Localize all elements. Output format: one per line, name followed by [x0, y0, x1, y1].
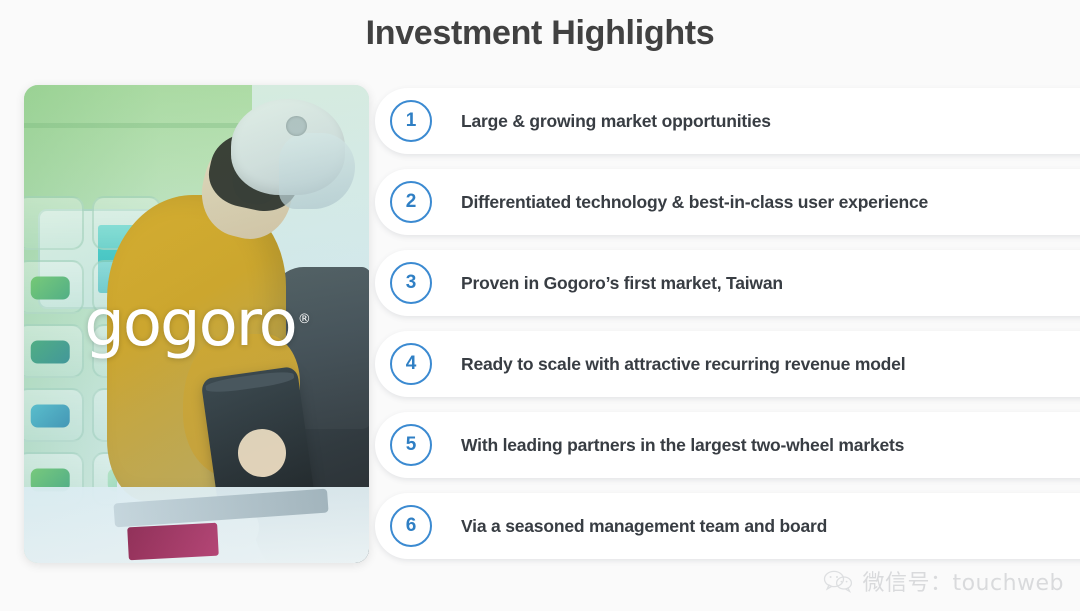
highlight-label: Differentiated technology & best-in-clas…: [461, 192, 928, 213]
battery-slot: [24, 260, 84, 314]
battery-slot: [24, 388, 84, 442]
watermark: 微信号：touchweb: [823, 565, 1064, 597]
highlight-label: With leading partners in the largest two…: [461, 435, 904, 456]
highlight-number-badge: 5: [390, 424, 432, 466]
highlight-item-3[interactable]: 3 Proven in Gogoro’s first market, Taiwa…: [375, 250, 1080, 316]
gogoro-battery-swap-photo: gogoro NETWORK gogoro®: [24, 85, 369, 563]
highlight-label: Via a seasoned management team and board: [461, 516, 827, 537]
highlight-item-5[interactable]: 5 With leading partners in the largest t…: [375, 412, 1080, 478]
investment-highlights-list: 1 Large & growing market opportunities 2…: [375, 88, 1080, 574]
person-hand-upper: [238, 429, 286, 477]
gogoro-wordmark: gogoro®: [84, 287, 309, 361]
helmet-knob: [286, 116, 307, 136]
highlight-number-badge: 6: [390, 505, 432, 547]
highlight-item-1[interactable]: 1 Large & growing market opportunities: [375, 88, 1080, 154]
floor-sign: [127, 522, 218, 560]
highlight-number-badge: 2: [390, 181, 432, 223]
page-title: Investment Highlights: [0, 10, 1080, 56]
highlight-number-badge: 3: [390, 262, 432, 304]
battery-slot: [24, 324, 84, 378]
gogoro-wordmark-text: gogoro: [84, 287, 296, 361]
highlight-number-badge: 4: [390, 343, 432, 385]
highlight-label: Ready to scale with attractive recurring…: [461, 354, 905, 375]
wechat-icon: [823, 569, 853, 593]
highlight-item-6[interactable]: 6 Via a seasoned management team and boa…: [375, 493, 1080, 559]
trademark-symbol: ®: [298, 312, 309, 327]
highlight-item-4[interactable]: 4 Ready to scale with attractive recurri…: [375, 331, 1080, 397]
battery-slot: [24, 196, 84, 250]
highlight-number-badge: 1: [390, 100, 432, 142]
highlight-item-2[interactable]: 2 Differentiated technology & best-in-cl…: [375, 169, 1080, 235]
highlight-label: Large & growing market opportunities: [461, 111, 771, 132]
highlight-label: Proven in Gogoro’s first market, Taiwan: [461, 273, 783, 294]
watermark-text: 微信号：touchweb: [862, 565, 1064, 597]
